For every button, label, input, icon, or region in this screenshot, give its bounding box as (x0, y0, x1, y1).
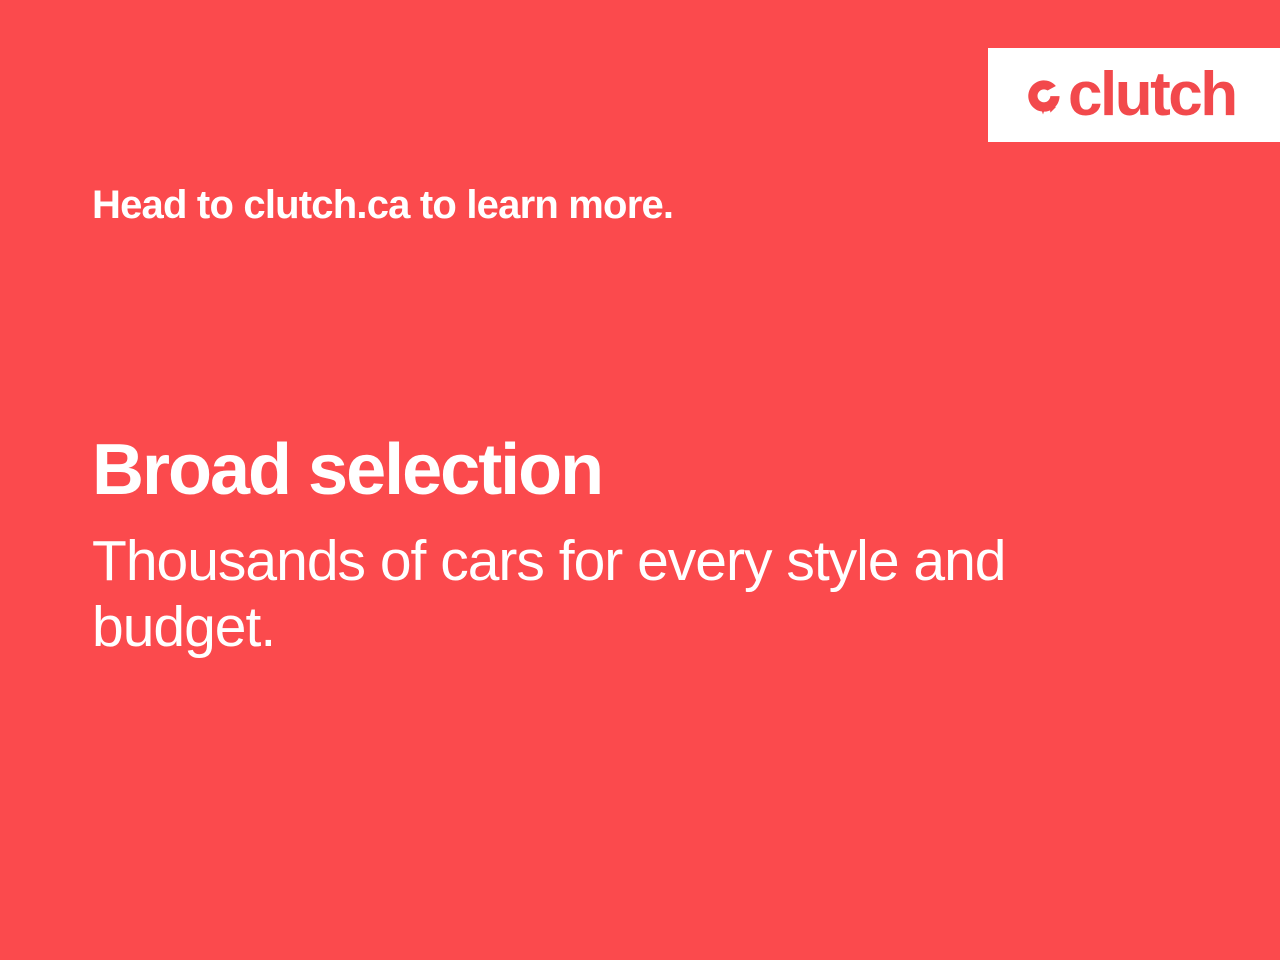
eyebrow-text: Head to clutch.ca to learn more. (92, 182, 673, 228)
brand-logo-plate: clutch (988, 48, 1280, 142)
clutch-logo-lockup: clutch (1020, 64, 1236, 126)
copy-block: Broad selection Thousands of cars for ev… (92, 432, 1092, 660)
headline: Broad selection (92, 432, 1092, 510)
clutch-c-mark-icon (1020, 74, 1066, 120)
marketing-slide: clutch Head to clutch.ca to learn more. … (0, 0, 1280, 960)
subheadline: Thousands of cars for every style and bu… (92, 528, 1022, 660)
clutch-wordmark: clutch (1068, 64, 1236, 126)
